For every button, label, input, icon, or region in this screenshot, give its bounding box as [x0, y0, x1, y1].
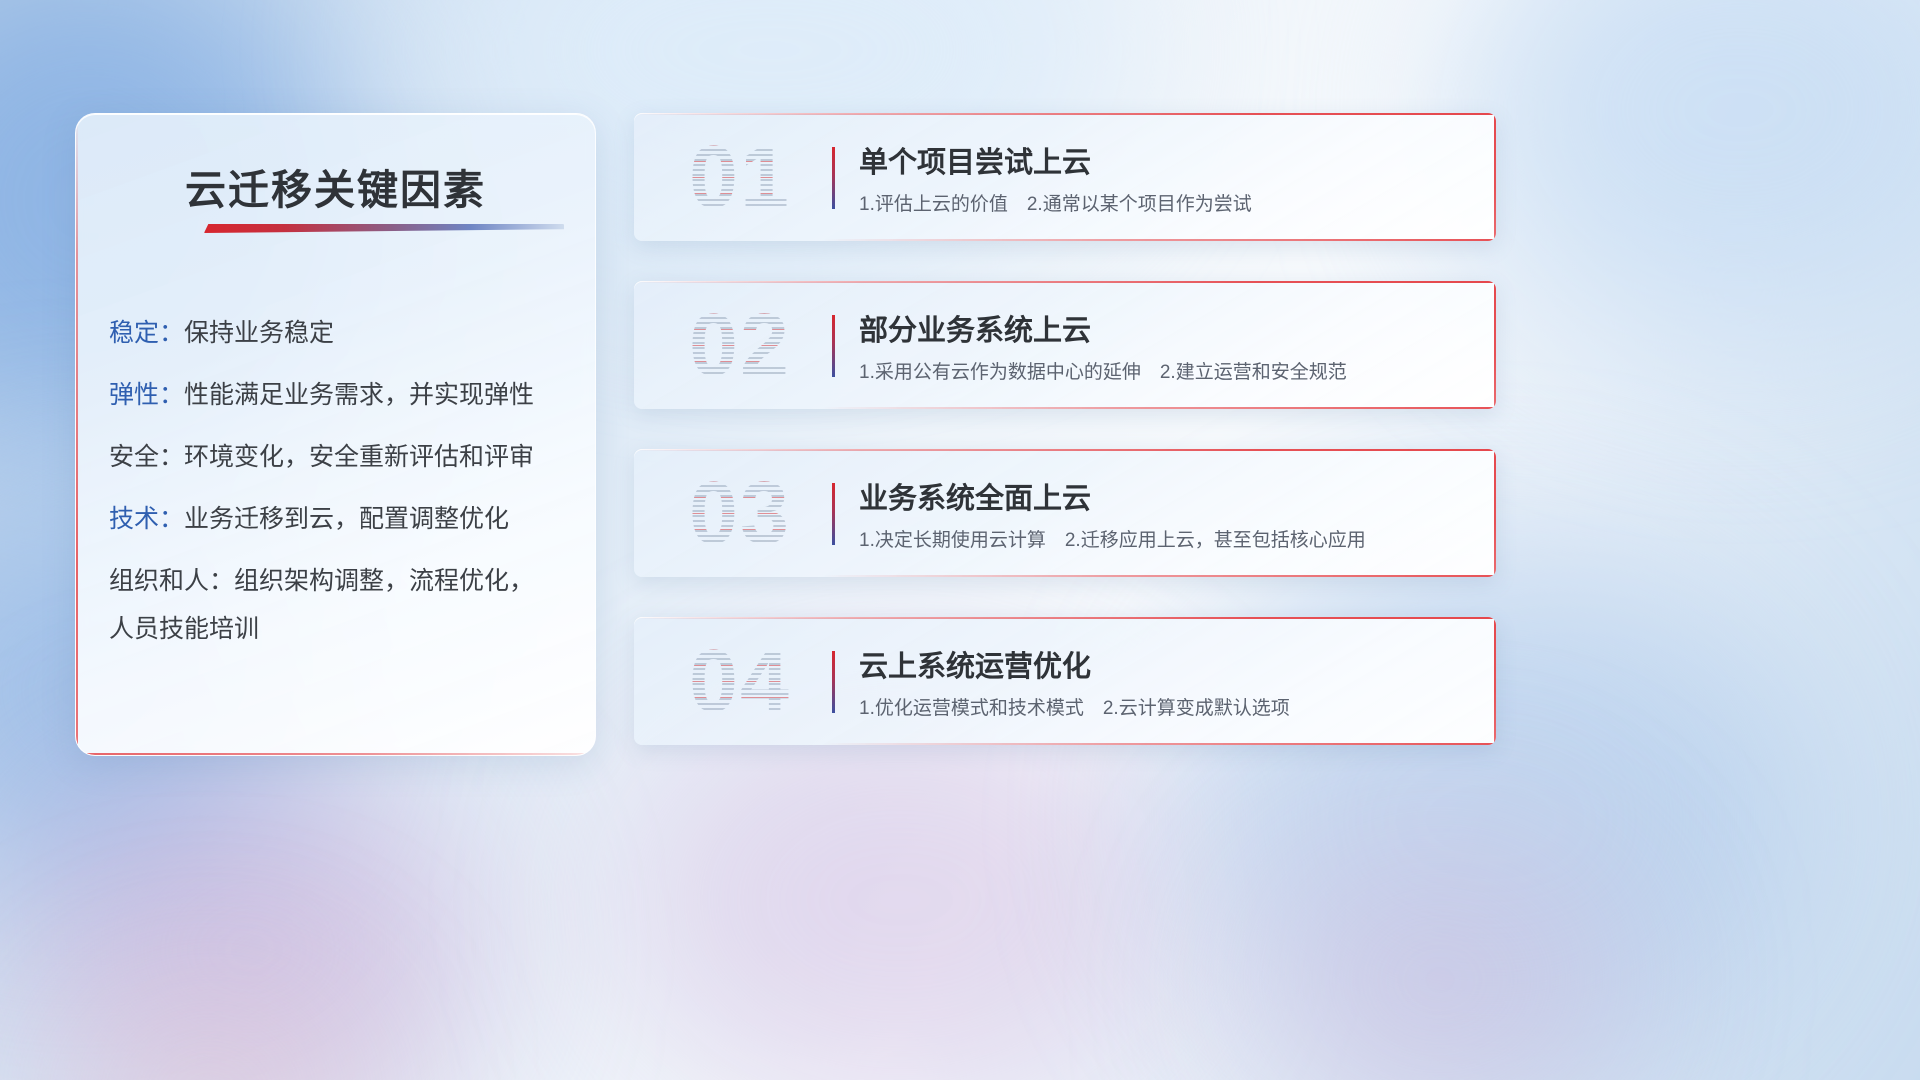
stage-card[interactable]: 0202部分业务系统上云1.采用公有云作为数据中心的延伸 2.建立运营和安全规范	[634, 281, 1496, 409]
card-accent-bar-icon	[832, 651, 835, 713]
card-bottom-accent	[824, 407, 1496, 409]
factor-value: 保持业务稳定	[184, 319, 334, 347]
factor-value: 环境变化，安全重新评估和评审	[184, 443, 534, 471]
stage-card-list: 0101单个项目尝试上云1.评估上云的价值 2.通常以某个项目作为尝试0202部…	[634, 113, 1496, 785]
factor-list: 稳定：保持业务稳定弹性：性能满足业务需求，并实现弹性安全：环境变化，安全重新评估…	[109, 314, 569, 672]
card-right-accent	[1494, 113, 1496, 241]
factor-label: 稳定：	[109, 319, 184, 347]
card-bottom-accent	[824, 575, 1496, 577]
stage-card[interactable]: 0303业务系统全面上云1.决定长期使用云计算 2.迁移应用上云，甚至包括核心应…	[634, 449, 1496, 577]
factor-row: 稳定：保持业务稳定	[109, 314, 569, 352]
factor-row: 组织和人：组织架构调整，流程优化，	[109, 562, 569, 600]
factor-value: 业务迁移到云，配置调整优化	[184, 505, 509, 533]
card-number-watermark: 02	[660, 297, 820, 393]
card-bottom-accent	[824, 743, 1496, 745]
card-subtitle: 1.决定长期使用云计算 2.迁移应用上云，甚至包括核心应用	[859, 525, 1366, 552]
factor-row: 技术：业务迁移到云，配置调整优化	[109, 500, 569, 538]
factor-label: 技术：	[109, 505, 184, 533]
card-accent-bar-icon	[832, 315, 835, 377]
card-number-watermark: 03	[660, 465, 820, 561]
card-top-accent	[634, 449, 1496, 451]
card-title: 云上系统运营优化	[859, 643, 1091, 685]
card-top-accent	[634, 281, 1496, 283]
card-right-accent	[1494, 449, 1496, 577]
card-top-accent	[634, 113, 1496, 115]
card-right-accent	[1494, 281, 1496, 409]
factor-row: 安全：环境变化，安全重新评估和评审	[109, 438, 569, 476]
card-subtitle: 1.采用公有云作为数据中心的延伸 2.建立运营和安全规范	[859, 357, 1347, 384]
card-accent-bar-icon	[832, 483, 835, 545]
stage-card[interactable]: 0101单个项目尝试上云1.评估上云的价值 2.通常以某个项目作为尝试	[634, 113, 1496, 241]
factor-value: 性能满足业务需求，并实现弹性	[184, 381, 534, 409]
factor-value: 人员技能培训	[109, 615, 259, 643]
page-title: 云迁移关键因素	[76, 156, 595, 216]
factor-row: 人员技能培训	[109, 610, 569, 648]
card-title: 单个项目尝试上云	[859, 139, 1091, 181]
factor-row: 弹性：性能满足业务需求，并实现弹性	[109, 376, 569, 414]
card-bottom-accent	[824, 239, 1496, 241]
factor-label: 安全：	[109, 443, 184, 471]
factor-label: 弹性：	[109, 381, 184, 409]
card-right-accent	[1494, 617, 1496, 745]
card-title: 业务系统全面上云	[859, 475, 1091, 517]
card-top-accent	[634, 617, 1496, 619]
card-subtitle: 1.评估上云的价值 2.通常以某个项目作为尝试	[859, 189, 1252, 216]
card-accent-bar-icon	[832, 147, 835, 209]
card-number-watermark: 04	[660, 633, 820, 729]
card-number-watermark: 01	[660, 129, 820, 225]
key-factors-panel: 云迁移关键因素 稳定：保持业务稳定弹性：性能满足业务需求，并实现弹性安全：环境变…	[75, 113, 596, 756]
card-subtitle: 1.优化运营模式和技术模式 2.云计算变成默认选项	[859, 693, 1290, 720]
factor-value: 组织架构调整，流程优化，	[234, 567, 534, 595]
title-underline-accent	[204, 224, 564, 233]
card-title: 部分业务系统上云	[859, 307, 1091, 349]
stage-card[interactable]: 0404云上系统运营优化1.优化运营模式和技术模式 2.云计算变成默认选项	[634, 617, 1496, 745]
factor-label: 组织和人：	[109, 567, 234, 595]
